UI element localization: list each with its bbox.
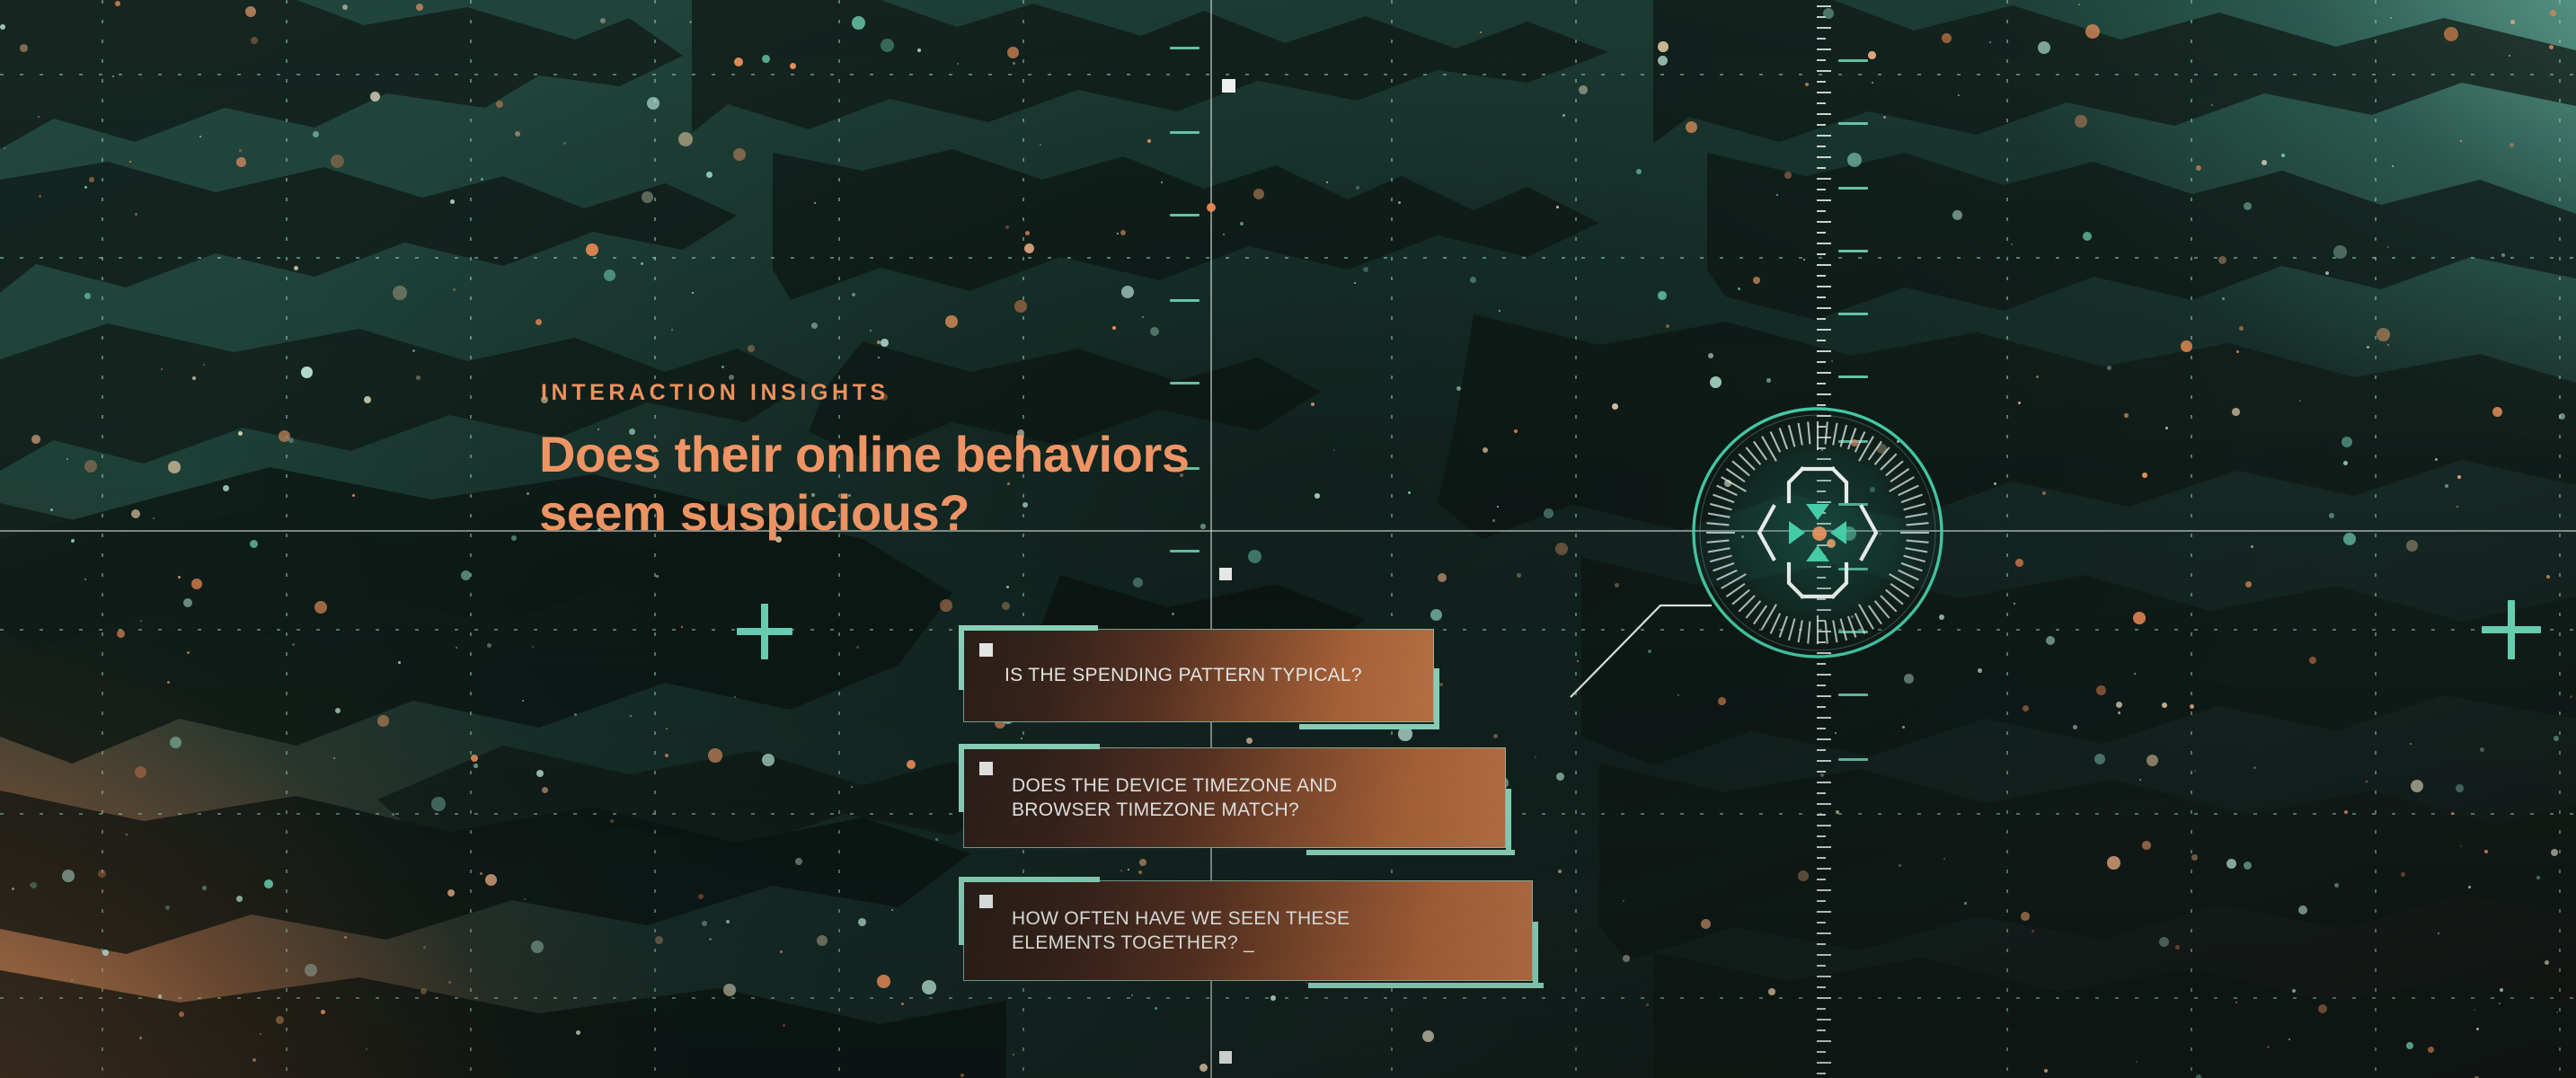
infographic-canvas: INTERACTION INSIGHTS Does their online b… [0,0,2576,1078]
crosshair-right [2482,600,2541,659]
page-title: Does their online behaviors seem suspici… [539,426,1285,543]
card-bracket-left [959,877,964,945]
insight-card-timezone-match[interactable]: DOES THE DEVICE TIMEZONE AND BROWSER TIM… [963,747,1506,848]
card-bracket-right [1434,668,1439,729]
card-label: DOES THE DEVICE TIMEZONE AND BROWSER TIM… [1012,747,1407,848]
eyebrow-label: INTERACTION INSIGHTS [541,382,1348,404]
radar-reticle [1687,402,1948,663]
card-bracket-bottom [1299,724,1439,729]
hero-text-block: INTERACTION INSIGHTS Does their online b… [539,382,1348,543]
crosshair-left [737,604,792,659]
card-bracket-right [1533,922,1538,988]
card-square-marker [979,643,993,657]
card-bracket-left [959,744,964,812]
card-bracket-bottom [1306,850,1515,855]
card-bracket-right [1506,789,1511,855]
insight-card-elements-together[interactable]: HOW OFTEN HAVE WE SEEN THESE ELEMENTS TO… [963,880,1533,981]
card-bracket-left [959,625,964,690]
card-label: IS THE SPENDING PATTERN TYPICAL? [1005,629,1418,722]
card-label: HOW OFTEN HAVE WE SEEN THESE ELEMENTS TO… [1012,880,1416,981]
card-bracket-bottom [1308,983,1544,988]
insight-card-spending-pattern[interactable]: IS THE SPENDING PATTERN TYPICAL? [963,629,1434,722]
card-square-marker [979,895,993,908]
card-square-marker [979,762,993,775]
